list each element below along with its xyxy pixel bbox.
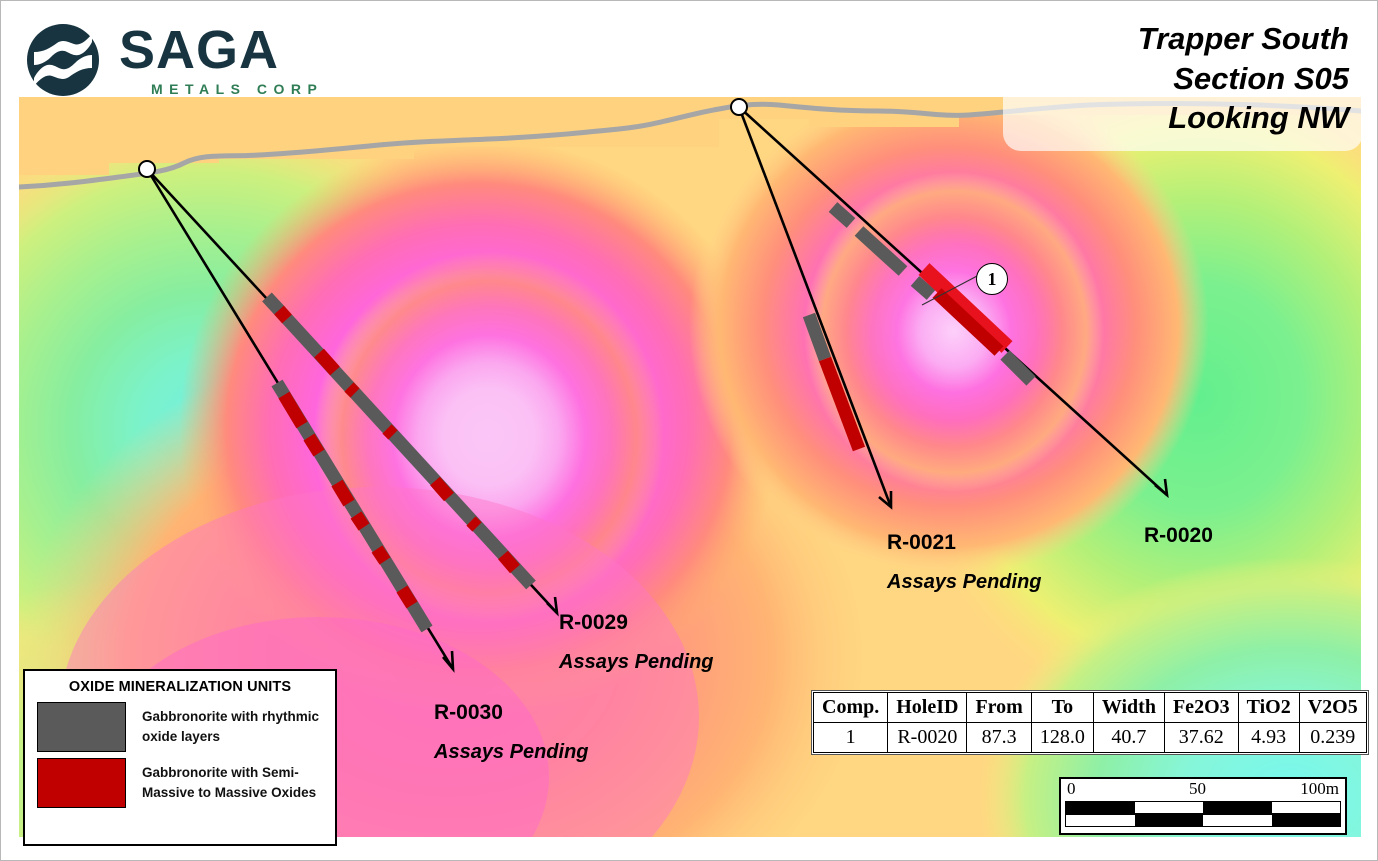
title-line-3: Looking NW [1009,98,1349,138]
composite-table: Comp. HoleID From To Width Fe2O3 TiO2 V2… [813,692,1367,753]
th-width: Width [1093,693,1164,723]
td-fe2o3: 37.62 [1164,723,1238,753]
section-figure: SAGA METALS CORP Trapper South Section S… [0,0,1378,861]
hole-id-r-0030: R-0030 [434,701,589,725]
th-holeid: HoleID [888,693,967,723]
table-header-row: Comp. HoleID From To Width Fe2O3 TiO2 V2… [814,693,1367,723]
hole-label-r-0029: R-0029 Assays Pending [559,611,714,674]
legend-swatch-red [37,758,126,808]
th-from: From [967,693,1031,723]
logo-tagline: METALS CORP [151,81,323,97]
logo-wordmark: SAGA [119,23,279,77]
scale-cell [1272,815,1341,826]
td-holeid: R-0020 [888,723,967,753]
composite-callout-1[interactable]: 1 [976,263,1008,295]
scale-cell [1066,815,1135,826]
table-row: 1 R-0020 87.3 128.0 40.7 37.62 4.93 0.23… [814,723,1367,753]
collar-marker-east [731,99,747,115]
td-to: 128.0 [1031,723,1093,753]
td-width: 40.7 [1093,723,1164,753]
hole-id-r-0029: R-0029 [559,611,714,635]
legend-box: OXIDE MINERALIZATION UNITS Gabbronorite … [23,669,337,846]
scale-tick-100: 100m [1300,779,1339,799]
scale-cell [1203,802,1272,813]
saga-logo: SAGA METALS CORP [23,19,343,99]
th-to: To [1031,693,1093,723]
figure-title: Trapper South Section S05 Looking NW [1009,19,1349,138]
scale-cell [1203,815,1272,826]
title-line-2: Section S05 [1009,59,1349,99]
collar-marker-west [139,161,155,177]
scale-cell [1135,815,1204,826]
composite-table-wrap: Comp. HoleID From To Width Fe2O3 TiO2 V2… [811,690,1369,755]
hole-status-r-0029: Assays Pending [559,651,714,674]
scale-tick-0: 0 [1067,779,1076,799]
hole-label-r-0030: R-0030 Assays Pending [434,701,589,764]
scale-cell [1066,802,1135,813]
saga-circle-logo-icon [23,21,109,99]
legend-item-gabbronorite-rhythmic: Gabbronorite with rhythmic oxide layers [25,699,335,755]
legend-title: OXIDE MINERALIZATION UNITS [25,679,335,695]
title-line-1: Trapper South [1009,19,1349,59]
hole-status-r-0030: Assays Pending [434,741,589,764]
th-tio2: TiO2 [1238,693,1299,723]
scale-cell [1135,802,1204,813]
hole-label-r-0020: R-0020 [1144,524,1213,548]
hole-status-r-0021: Assays Pending [887,571,1042,594]
td-from: 87.3 [967,723,1031,753]
td-comp: 1 [814,723,888,753]
hole-id-r-0020: R-0020 [1144,524,1213,548]
scale-tick-50: 50 [1189,779,1206,799]
legend-label-red: Gabbronorite with Semi-Massive to Massiv… [142,763,325,802]
legend-label-gray: Gabbronorite with rhythmic oxide layers [142,707,325,746]
scale-cell [1272,802,1341,813]
hole-label-r-0021: R-0021 Assays Pending [887,531,1042,594]
legend-swatch-gray [37,702,126,752]
td-tio2: 4.93 [1238,723,1299,753]
scale-bar-ticks: 0 50 100m [1061,779,1345,801]
legend-item-gabbronorite-massive: Gabbronorite with Semi-Massive to Massiv… [25,755,335,811]
th-fe2o3: Fe2O3 [1164,693,1238,723]
td-v2o5: 0.239 [1299,723,1366,753]
hole-id-r-0021: R-0021 [887,531,1042,555]
scale-bar-row-top [1065,801,1341,814]
th-v2o5: V2O5 [1299,693,1366,723]
scale-bar: 0 50 100m [1059,777,1347,835]
th-comp: Comp. [814,693,888,723]
scale-bar-row-bottom [1065,814,1341,827]
